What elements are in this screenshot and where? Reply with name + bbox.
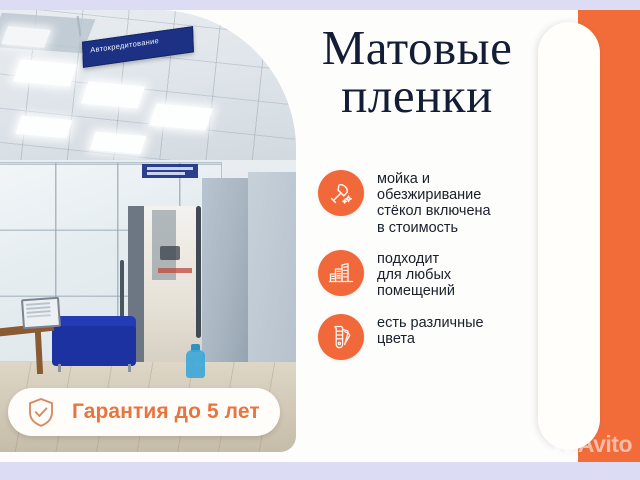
feature-line: помещений [377, 283, 455, 299]
squeegee-sparkle-icon [318, 170, 364, 216]
feature-line: мойка и [377, 171, 491, 187]
ceiling-light [1, 26, 50, 48]
ad-title: Матовые пленки [262, 24, 572, 120]
sofa-leg [128, 364, 131, 372]
wall-sign [142, 164, 198, 178]
feature-text-cleaning: мойка и обезжиривание стёкол включена в … [377, 170, 491, 236]
water-cooler-bottle [186, 350, 205, 378]
floor-mat [158, 268, 192, 273]
feature-line: обезжиривание [377, 187, 491, 203]
avito-dots-icon [553, 434, 575, 456]
feature-line: есть различные [377, 315, 484, 331]
feature-list: мойка и обезжиривание стёкол включена в … [318, 170, 576, 374]
photo-inner: Автокредитование [0, 10, 296, 452]
feature-line: в стоимость [377, 220, 491, 236]
guarantee-badge: Гарантия до 5 лет [8, 388, 280, 436]
feature-text-colors: есть различные цвета [377, 314, 484, 347]
feature-line: цвета [377, 331, 484, 347]
letterbox-bottom [0, 462, 640, 480]
letterbox-top [0, 0, 640, 10]
ad-canvas: Автокредитование [0, 10, 640, 462]
title-line-2: пленки [262, 72, 572, 120]
avito-watermark: Avito [553, 431, 632, 458]
column-far [248, 172, 296, 372]
bin [160, 246, 180, 260]
advertisement-banner: Автокредитование [0, 0, 640, 480]
avito-wordmark: Avito [578, 431, 632, 458]
color-fan-icon [318, 314, 364, 360]
guarantee-badge-text: Гарантия до 5 лет [72, 400, 260, 424]
door-handle [196, 206, 201, 338]
title-line-1: Матовые [322, 20, 513, 75]
feature-item-cleaning: мойка и обезжиривание стёкол включена в … [318, 170, 576, 236]
sofa-leg [58, 364, 61, 372]
feature-line: для любых [377, 267, 455, 283]
feature-item-premises: подходит для любых помещений [318, 250, 576, 300]
buildings-icon [318, 250, 364, 296]
feature-item-colors: есть различные цвета [318, 314, 576, 360]
feature-line: стёкол включена [377, 203, 491, 219]
office-interior-photo: Автокредитование [0, 10, 296, 452]
blue-sofa [52, 326, 136, 366]
feature-line: подходит [377, 251, 455, 267]
laptop [21, 297, 61, 330]
feature-text-premises: подходит для любых помещений [377, 250, 455, 300]
autocredit-sign-label: Автокредитование [90, 36, 159, 55]
shield-check-icon [26, 396, 56, 428]
column-near [202, 178, 248, 370]
